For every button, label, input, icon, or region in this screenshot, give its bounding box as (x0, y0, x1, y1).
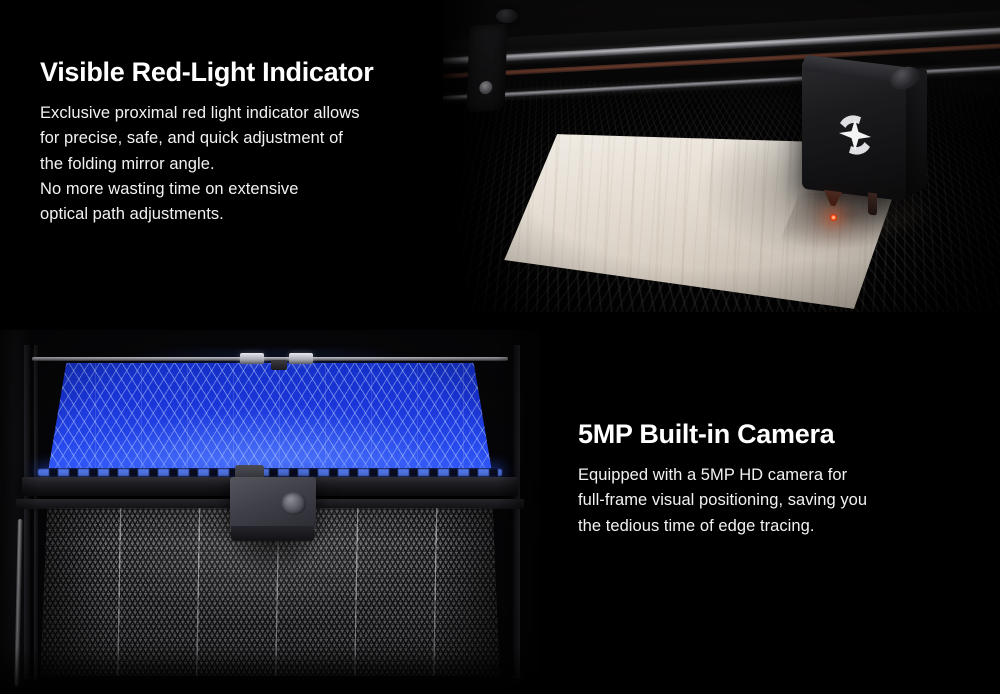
feature-body-line: Equipped with a 5MP HD camera for (578, 463, 978, 488)
blue-bed-mesh-pattern (49, 363, 492, 469)
bracket-screw-icon (479, 81, 492, 95)
rail-slider-center-block (271, 360, 287, 370)
feature-body-line: the folding mirror angle. (40, 152, 440, 177)
feature-heading-red-light-indicator: Visible Red-Light Indicator (40, 57, 440, 88)
rail-slider-right (289, 353, 313, 364)
feature-body-line: optical path adjustments. (40, 202, 440, 227)
feature-body-line: for precise, safe, and quick adjustment … (40, 126, 440, 151)
laser-head-red-dot-photo (443, 0, 1000, 312)
camera-module-base (231, 526, 314, 541)
rail-slider-left (240, 353, 264, 364)
camera-module (230, 465, 316, 541)
carriage-bracket (467, 24, 508, 112)
camera-lens (281, 492, 305, 514)
camera-top-view-photo (0, 330, 540, 694)
feature-body-red-light-indicator: Exclusive proximal red light indicator a… (40, 101, 440, 227)
marketing-page: Visible Red-Light Indicator Exclusive pr… (0, 0, 1000, 694)
feature-body-line: No more wasting time on extensive (40, 177, 440, 202)
red-light-indicator-dot (830, 214, 837, 221)
laser-head-module (802, 59, 926, 199)
camera-module-housing (230, 477, 316, 529)
feature-heading-built-in-camera: 5MP Built-in Camera (578, 419, 978, 450)
feature-text-red-light-indicator: Visible Red-Light Indicator Exclusive pr… (40, 57, 440, 227)
feature-text-built-in-camera: 5MP Built-in Camera Equipped with a 5MP … (578, 419, 978, 539)
feature-body-line: the tedious time of edge tracing. (578, 514, 978, 539)
top-cross-rail (32, 357, 507, 361)
feature-body-line: Exclusive proximal red light indicator a… (40, 101, 440, 126)
feature-body-built-in-camera: Equipped with a 5MP HD camera for full-f… (578, 463, 978, 539)
feature-body-line: full-frame visual positioning, saving yo… (578, 488, 978, 513)
laser-head-shadow (777, 193, 945, 249)
sparkle-star-logo (830, 106, 880, 164)
focus-probe (868, 193, 877, 216)
